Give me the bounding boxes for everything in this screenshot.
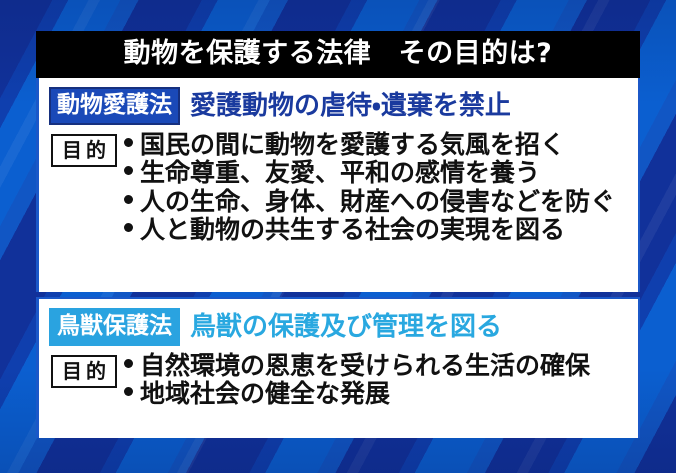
purpose-row: 目的 国民の間に動物を愛護する気風を招く 生命尊重、友愛、平和の感情を養う 人の… (51, 131, 638, 244)
law-badge-animal-welfare: 動物愛護法 (49, 87, 180, 125)
purpose-bullet-list: 自然環境の恩恵を受けられる生活の確保 地域社会の健全な発展 (124, 352, 590, 409)
law-heading-row: 鳥獣保護法 鳥獣の保護及び管理を図る (49, 308, 638, 346)
tv-news-graphic: 動物を保護する法律 その目的は? 動物愛護法 愛護動物の虐待・遺棄を禁止 目的 … (0, 0, 676, 473)
bullet-text: 地域社会の健全な発展 (140, 380, 390, 408)
purpose-bullet-list: 国民の間に動物を愛護する気風を招く 生命尊重、友愛、平和の感情を養う 人の生命、… (124, 131, 615, 244)
list-item: 国民の間に動物を愛護する気風を招く (124, 131, 615, 159)
bullet-text: 生命尊重、友愛、平和の感情を養う (140, 159, 540, 187)
title-bar: 動物を保護する法律 その目的は? (36, 31, 640, 78)
list-item: 人と動物の共生する社会の実現を図る (124, 216, 615, 244)
purpose-label-box: 目的 (51, 355, 117, 388)
bullet-dot-icon (124, 166, 133, 175)
list-item: 生命尊重、友愛、平和の感情を養う (124, 159, 615, 187)
law-card-wildlife-protection: 鳥獣保護法 鳥獣の保護及び管理を図る 目的 自然環境の恩恵を受けられる生活の確保… (36, 297, 640, 438)
bullet-dot-icon (124, 387, 133, 396)
bullet-dot-icon (124, 138, 133, 147)
bullet-text: 人と動物の共生する社会の実現を図る (140, 216, 565, 244)
law-summary-wildlife-protection: 鳥獣の保護及び管理を図る (190, 314, 502, 340)
bullet-dot-icon (124, 359, 133, 368)
bullet-text: 自然環境の恩恵を受けられる生活の確保 (140, 352, 590, 380)
list-item: 人の生命、身体、財産への侵害などを防ぐ (124, 188, 615, 216)
purpose-row: 目的 自然環境の恩恵を受けられる生活の確保 地域社会の健全な発展 (51, 352, 638, 409)
page-title: 動物を保護する法律 その目的は? (124, 40, 553, 67)
bullet-text: 国民の間に動物を愛護する気風を招く (140, 131, 565, 159)
law-summary-animal-welfare: 愛護動物の虐待・遺棄を禁止 (190, 93, 511, 119)
list-item: 自然環境の恩恵を受けられる生活の確保 (124, 352, 590, 380)
list-item: 地域社会の健全な発展 (124, 380, 590, 408)
purpose-label-box: 目的 (51, 134, 117, 167)
law-badge-wildlife-protection: 鳥獣保護法 (49, 308, 180, 346)
bullet-dot-icon (124, 223, 133, 232)
bullet-text: 人の生命、身体、財産への侵害などを防ぐ (140, 188, 615, 216)
bullet-dot-icon (124, 195, 133, 204)
law-card-animal-welfare: 動物愛護法 愛護動物の虐待・遺棄を禁止 目的 国民の間に動物を愛護する気風を招く… (36, 78, 640, 292)
law-heading-row: 動物愛護法 愛護動物の虐待・遺棄を禁止 (49, 87, 638, 125)
